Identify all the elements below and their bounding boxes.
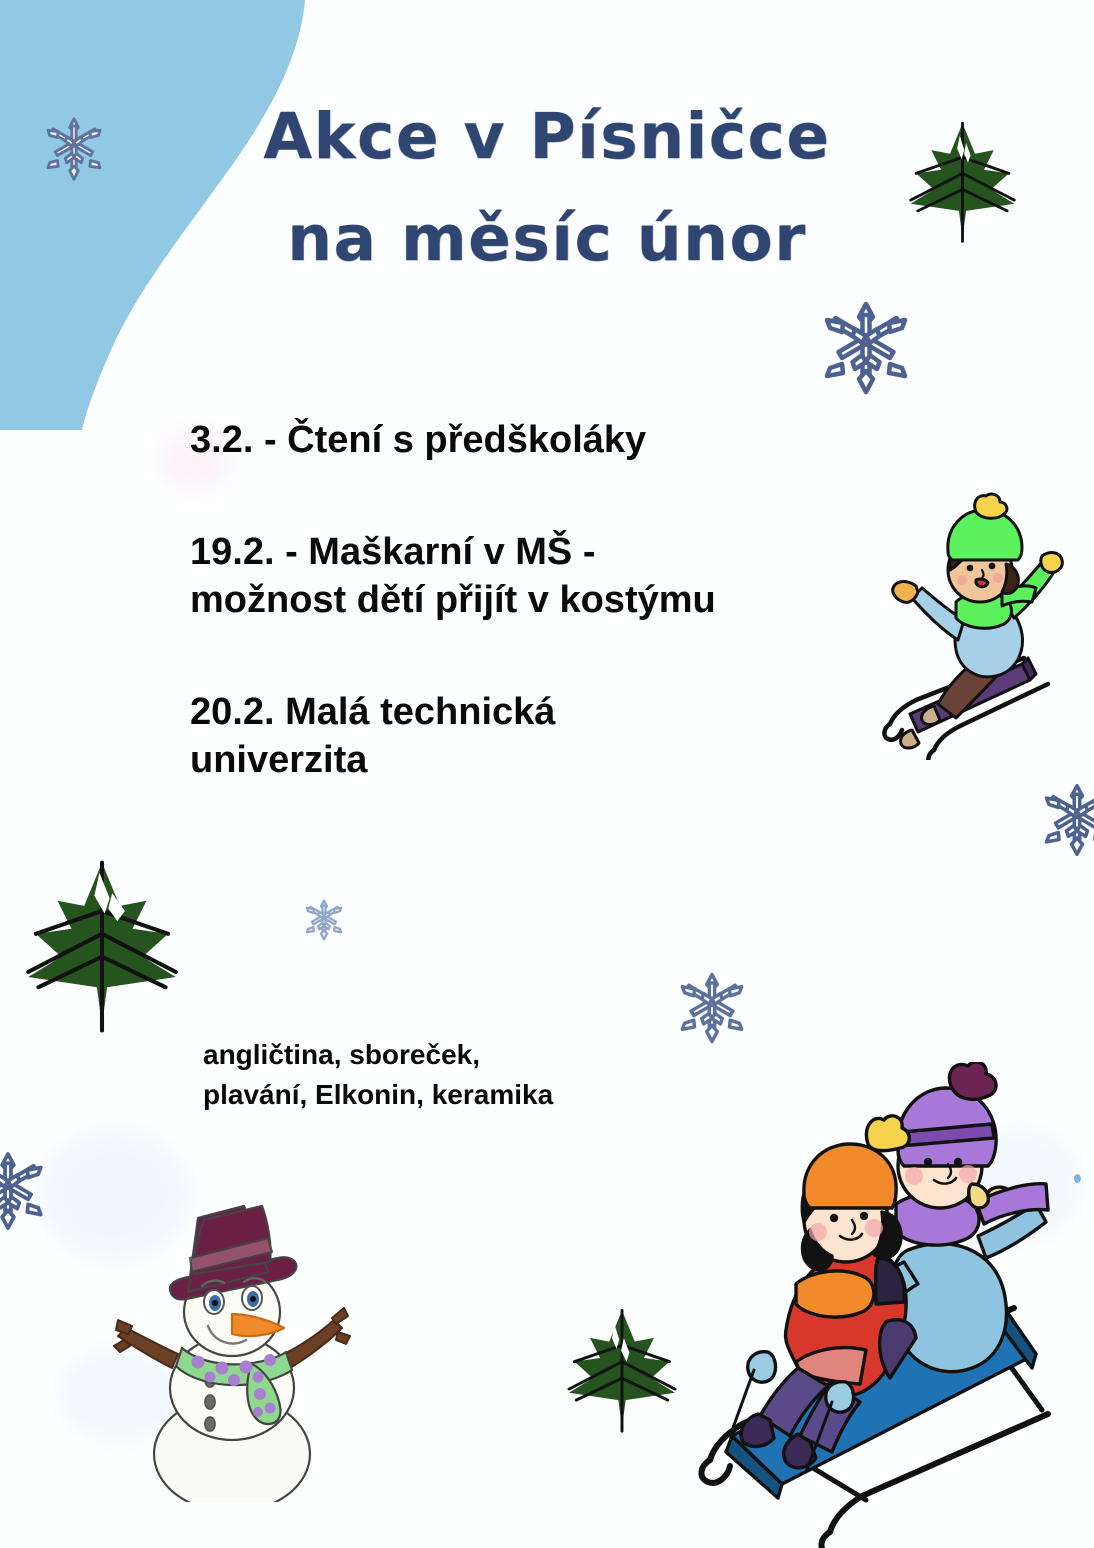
snowflake-upper-right-icon xyxy=(816,296,916,400)
background-smudge-1 xyxy=(40,1130,190,1260)
snowflake-right-edge-icon xyxy=(1038,780,1094,860)
pine-tree-left-icon xyxy=(22,855,182,1033)
snow-speck-icon xyxy=(1074,1174,1081,1183)
event-item-2: 19.2. - Maškarní v MŠ - možnost dětí při… xyxy=(190,529,910,625)
background-smudge-2 xyxy=(60,1350,180,1440)
background-smudge-4 xyxy=(960,1130,1080,1240)
pine-tree-bottom-center-icon xyxy=(566,1305,678,1433)
snowman-illustration xyxy=(112,1202,352,1502)
event-item-1: 3.2. - Čtení s předškoláky xyxy=(190,417,910,465)
event-list: 3.2. - Čtení s předškoláky 19.2. - Maška… xyxy=(190,417,910,784)
activities-text: angličtina, sboreček, plavání, Elkonin, … xyxy=(203,1035,763,1115)
title-line-1: Akce v Písničce xyxy=(0,86,1094,188)
winter-event-poster: Akce v Písničce na měsíc únor 3.2. - Čte… xyxy=(0,0,1094,1548)
poster-title: Akce v Písničce na měsíc únor xyxy=(0,86,1094,290)
snowflake-mid-left-icon xyxy=(302,897,346,943)
title-line-2: na měsíc únor xyxy=(0,188,1094,290)
two-children-on-sled-illustration xyxy=(690,1062,1090,1548)
event-item-3: 20.2. Malá technická univerzita xyxy=(190,689,910,785)
snowflake-bottom-left-edge-icon xyxy=(0,1148,50,1234)
